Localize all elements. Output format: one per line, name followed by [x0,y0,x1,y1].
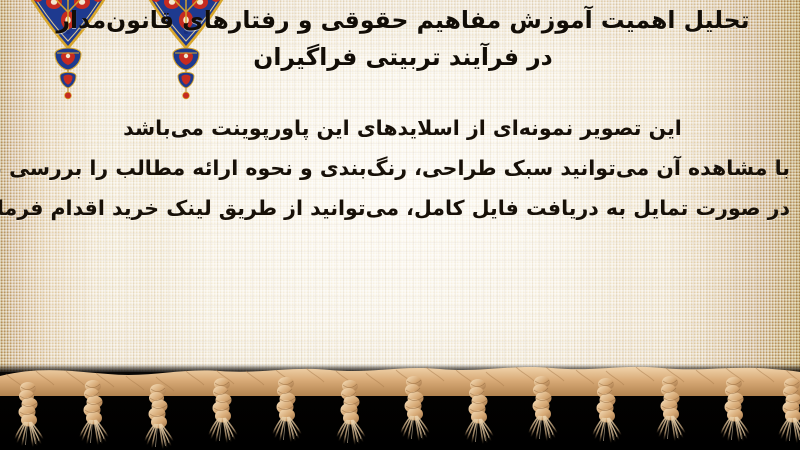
slide-text-layer: تحلیل اهمیت آموزش مفاهیم حقوقی و رفتارها… [0,0,800,450]
body-line-1: این تصویر نمونه‌ای از اسلایدهای این پاور… [15,108,790,148]
title-line-2: در فرآیند تربیتی فراگیران [20,39,786,76]
slide-title: تحلیل اهمیت آموزش مفاهیم حقوقی و رفتارها… [20,2,786,76]
title-line-1: تحلیل اهمیت آموزش مفاهیم حقوقی و رفتارها… [20,2,786,39]
slide-body: این تصویر نمونه‌ای از اسلایدهای این پاور… [15,108,790,228]
presentation-slide: تحلیل اهمیت آموزش مفاهیم حقوقی و رفتارها… [0,0,800,450]
body-line-3: در صورت تمایل به دریافت فایل کامل، می‌تو… [15,188,790,228]
body-line-2: با مشاهده آن می‌توانید سبک طراحی، رنگ‌بن… [15,148,790,188]
